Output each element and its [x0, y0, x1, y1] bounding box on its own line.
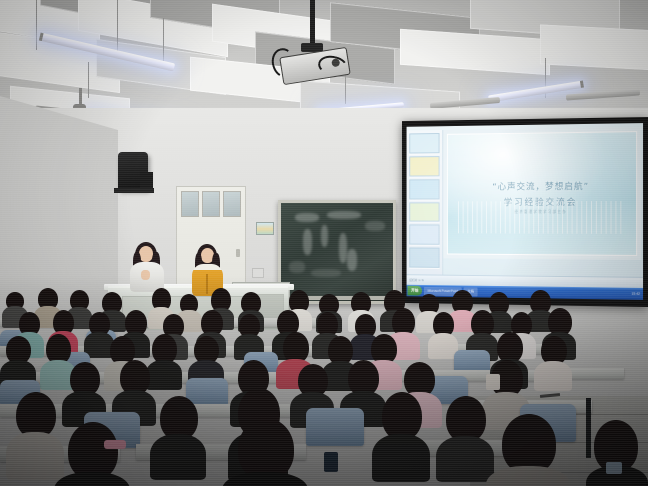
student — [428, 312, 458, 356]
slide-thumb-1[interactable] — [409, 133, 439, 153]
door-handle[interactable] — [236, 249, 240, 257]
door-pane — [223, 191, 241, 217]
classroom-interior: “心声交流，梦想启航” 学习经验交流会 经济管理学院学习部主办 幻灯片 1 / … — [0, 0, 648, 486]
projector-pole — [310, 0, 315, 45]
projection-screen: “心声交流，梦想启航” 学习经验交流会 经济管理学院学习部主办 幻灯片 1 / … — [402, 117, 648, 307]
student — [372, 392, 430, 476]
desk-item-phone[interactable] — [324, 452, 338, 472]
classroom-photo: “心声交流，梦想启航” 学习经验交流会 经济管理学院学习部主办 幻灯片 1 / … — [0, 0, 648, 486]
desk-item-phone[interactable] — [606, 462, 622, 474]
door-pane — [181, 191, 199, 217]
wall-speaker-shelf — [114, 188, 154, 193]
presenter-right — [190, 244, 224, 294]
current-slide[interactable]: “心声交流，梦想启航” 学习经验交流会 经济管理学院学习部主办 — [447, 131, 637, 256]
wall-outlet — [252, 268, 264, 278]
slide-thumb-6[interactable] — [409, 248, 439, 268]
slide-title: “心声交流，梦想启航” — [492, 179, 589, 192]
light-hanger — [117, 0, 118, 52]
student — [150, 396, 206, 474]
light-hanger — [88, 62, 89, 98]
slide-thumb-4[interactable] — [409, 202, 439, 222]
light-hanger — [36, 0, 37, 50]
student — [222, 418, 308, 486]
door-transom — [181, 191, 241, 217]
seat-back — [306, 408, 364, 446]
wall-speaker-bracket — [140, 172, 153, 189]
slide-organization: 经济管理学院学习部主办 — [514, 209, 567, 215]
light-hanger — [163, 18, 164, 63]
blackboard — [278, 200, 396, 304]
door-pane — [202, 191, 220, 217]
projected-desktop: “心声交流，梦想启航” 学习经验交流会 经济管理学院学习部主办 幻灯片 1 / … — [407, 123, 643, 300]
student — [54, 422, 130, 486]
slide-thumb-5[interactable] — [409, 225, 439, 245]
system-tray-clock[interactable]: 15:42 — [631, 292, 643, 296]
student — [586, 420, 648, 486]
ceiling-panel — [400, 29, 550, 75]
windows-taskbar[interactable]: 开始 Microsoft PowerPoint 文档 15:42 — [407, 285, 643, 300]
slide-editing-stage[interactable]: “心声交流，梦想启航” 学习经验交流会 经济管理学院学习部主办 — [443, 127, 641, 260]
student-desk — [564, 368, 624, 379]
student — [534, 336, 572, 386]
student — [0, 336, 36, 386]
desk-item-cup[interactable] — [486, 374, 500, 390]
student — [486, 414, 570, 486]
desk-item-pink-case[interactable] — [104, 440, 126, 449]
slide-subtitle: 学习经验交流会 — [504, 195, 578, 208]
slide-thumbnail-panel[interactable] — [407, 130, 443, 276]
student — [234, 314, 264, 356]
wall-poster — [256, 222, 274, 235]
slide-thumb-3[interactable] — [409, 179, 439, 199]
presenter-left — [130, 242, 164, 290]
ceiling-panel — [540, 24, 648, 71]
slide-thumb-2[interactable] — [409, 156, 439, 176]
